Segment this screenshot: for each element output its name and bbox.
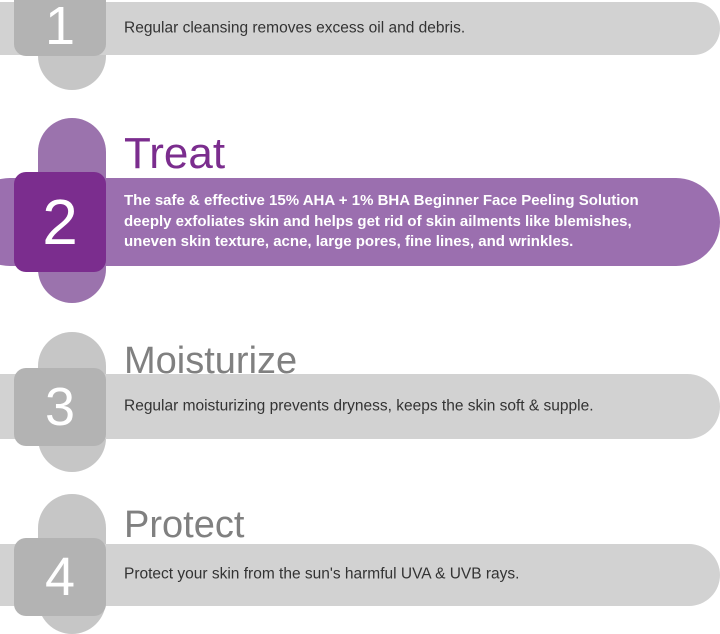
step-1-body-text: Regular cleansing removes excess oil and… bbox=[124, 18, 664, 39]
step-2-number: 2 bbox=[42, 190, 78, 254]
step-4-number-badge: 4 bbox=[14, 538, 106, 616]
step-2-content-bar: The safe & effective 15% AHA + 1% BHA Be… bbox=[0, 178, 720, 266]
step-1: Regular cleansing removes excess oil and… bbox=[0, 0, 720, 110]
step-2-number-badge: 2 bbox=[14, 172, 106, 272]
step-3-heading: Moisturize bbox=[124, 342, 297, 380]
step-1-number: 1 bbox=[45, 0, 75, 53]
step-4-body-text: Protect your skin from the sun's harmful… bbox=[124, 565, 664, 586]
step-4-heading: Protect bbox=[124, 506, 244, 544]
step-3-content-bar: Regular moisturizing prevents dryness, k… bbox=[0, 374, 720, 439]
step-2-heading: Treat bbox=[124, 132, 225, 176]
step-3-number-badge: 3 bbox=[14, 368, 106, 446]
step-3-number: 3 bbox=[45, 380, 75, 434]
step-1-number-badge: 1 bbox=[14, 0, 106, 56]
step-3-body-text: Regular moisturizing prevents dryness, k… bbox=[124, 396, 664, 417]
skincare-routine-infographic: Regular cleansing removes excess oil and… bbox=[0, 0, 720, 600]
step-4-number: 4 bbox=[45, 550, 75, 604]
step-1-content-bar: Regular cleansing removes excess oil and… bbox=[0, 2, 720, 55]
step-4: Protect Protect your skin from the sun's… bbox=[0, 492, 720, 600]
step-4-content-bar: Protect your skin from the sun's harmful… bbox=[0, 544, 720, 606]
step-3: Moisturize Regular moisturizing prevents… bbox=[0, 330, 720, 480]
step-2-body-text: The safe & effective 15% AHA + 1% BHA Be… bbox=[124, 191, 664, 253]
step-2: Treat The safe & effective 15% AHA + 1% … bbox=[0, 118, 720, 308]
